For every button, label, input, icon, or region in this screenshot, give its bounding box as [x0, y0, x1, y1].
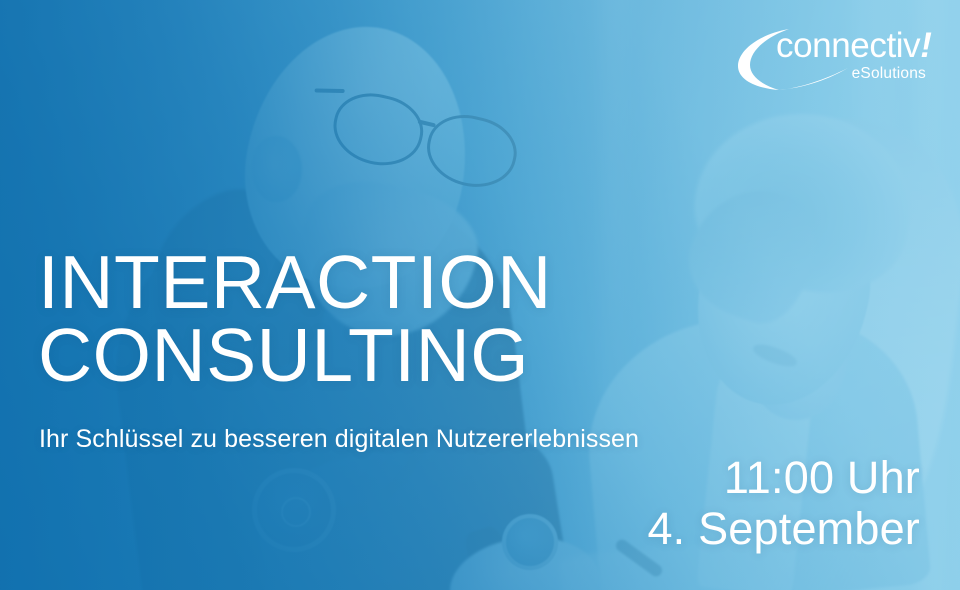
- event-date: 4. September: [647, 503, 920, 554]
- headline-line-2: CONSULTING: [38, 319, 552, 392]
- headline-line-1: INTERACTION: [38, 246, 552, 319]
- page-title: INTERACTION CONSULTING: [38, 246, 552, 392]
- brand-logo[interactable]: connectiv! eSolutions: [732, 26, 928, 92]
- logo-wordmark-accent: !: [920, 26, 931, 65]
- event-details: 11:00 Uhr 4. September: [647, 452, 920, 555]
- banner-content: connectiv! eSolutions INTERACTION CONSUL…: [0, 0, 960, 590]
- subtitle: Ihr Schlüssel zu besseren digitalen Nutz…: [39, 424, 639, 454]
- promo-banner: connectiv! eSolutions INTERACTION CONSUL…: [0, 0, 960, 590]
- event-time: 11:00 Uhr: [647, 452, 920, 503]
- logo-tagline: eSolutions: [852, 66, 926, 82]
- logo-wordmark-text: connectiv: [776, 26, 920, 65]
- logo-wordmark: connectiv!: [776, 28, 932, 63]
